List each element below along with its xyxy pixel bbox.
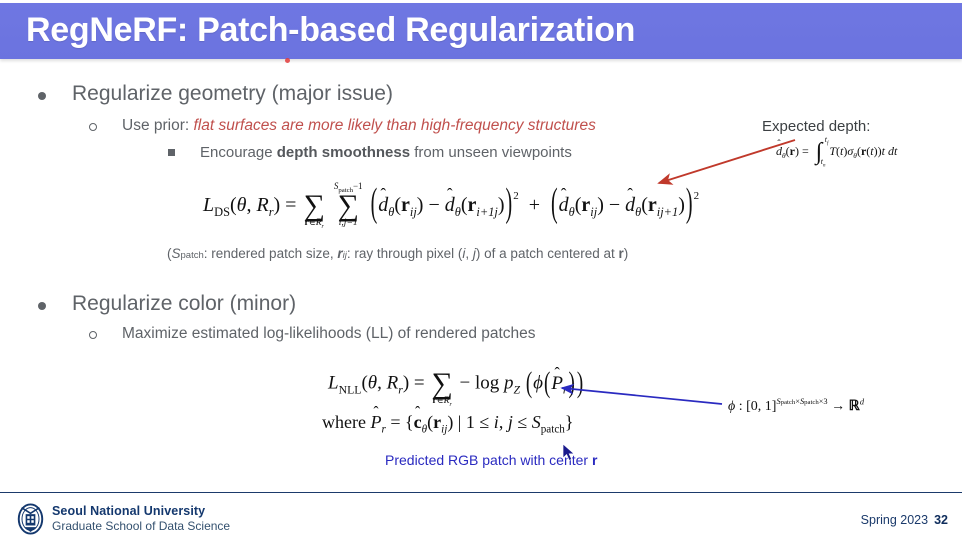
maximize-ll-label: Maximize estimated log-likelihoods (LL) … [122, 325, 536, 342]
use-prior-prefix: Use prior: [122, 117, 194, 134]
footer-university: Seoul National University [52, 504, 230, 518]
red-arrow-expected-depth [659, 140, 795, 183]
bullet-disc-icon [38, 92, 46, 100]
title-red-dot-marker [285, 58, 290, 63]
integral-symbol: tf ∫ tn [816, 140, 823, 164]
footer-institution: Seoul National University Graduate Schoo… [52, 504, 230, 533]
summation-over-rays: ∑ r∈Rr [303, 182, 324, 231]
equation-expected-depth: ̂dθ(r) = tf ∫ tn T(t)σθ(r(t))t dt [776, 140, 897, 164]
equation-nll: LNLL(θ, Rr) = ∑ r∈Rr − log pZ (ϕ(̂Pr)) [328, 360, 584, 409]
bullet-circle-icon [89, 331, 97, 339]
bullet-circle-icon [89, 123, 97, 131]
footer-school: Graduate School of Data Science [52, 519, 230, 533]
expected-depth-label: Expected depth: [762, 118, 870, 135]
slide-canvas: RegNeRF: Patch-based Regularization Regu… [0, 0, 962, 543]
footer-page-number: 32 [934, 513, 948, 527]
bullet-maximize-ll: Maximize estimated log-likelihoods (LL) … [122, 325, 536, 343]
bullet-disc-icon [38, 302, 46, 310]
equation-where-clause: where ̂Pr = {̂cθ(rij) | 1 ≤ i, j ≤ Spatc… [322, 412, 574, 433]
footer-term-and-page: Spring 202332 [861, 513, 948, 527]
encourage-bold: depth smoothness [277, 144, 410, 161]
summation-over-rays: ∑ r∈Rr [431, 360, 452, 409]
bullet-regularize-color: Regularize color (minor) [72, 292, 296, 316]
page-title: RegNeRF: Patch-based Regularization [26, 11, 635, 50]
equation-phi-map: ϕ : [0, 1]Spatch×Spatch×3 → ℝd [728, 398, 864, 415]
snu-crest-icon [14, 502, 47, 536]
bullet-color-label: Regularize color (minor) [72, 292, 296, 315]
bullet-use-prior: Use prior: flat surfaces are more likely… [122, 117, 596, 135]
bullet-encourage-depth-smoothness: Encourage depth smoothness from unseen v… [200, 144, 572, 161]
footer-term: Spring 2023 [861, 513, 928, 527]
footer-divider [0, 492, 962, 493]
summation-over-patch: Spatch−1 ∑ i,j=1 [334, 182, 363, 231]
blue-annotation-bold: r [592, 452, 597, 468]
blue-annotation-prefix: Predicted RGB patch with center [385, 452, 592, 468]
depth-equation-note: (Spatch: rendered patch size, rij: ray t… [167, 246, 628, 261]
blue-arrow-phi [562, 388, 722, 404]
equation-depth-smoothness: LDS(θ, Rr) = ∑ r∈Rr Spatch−1 ∑ i,j=1 (̂d… [203, 182, 699, 231]
encourage-prefix: Encourage [200, 144, 277, 161]
slide-title-bar: RegNeRF: Patch-based Regularization [0, 3, 962, 59]
bullet-square-icon [168, 149, 175, 156]
mouse-pointer-icon [562, 443, 576, 463]
use-prior-emphasis: flat surfaces are more likely than high-… [194, 117, 596, 134]
bullet-geometry-label: Regularize geometry (major issue) [72, 82, 393, 105]
encourage-suffix: from unseen viewpoints [410, 144, 572, 161]
bullet-regularize-geometry: Regularize geometry (major issue) [72, 82, 393, 106]
